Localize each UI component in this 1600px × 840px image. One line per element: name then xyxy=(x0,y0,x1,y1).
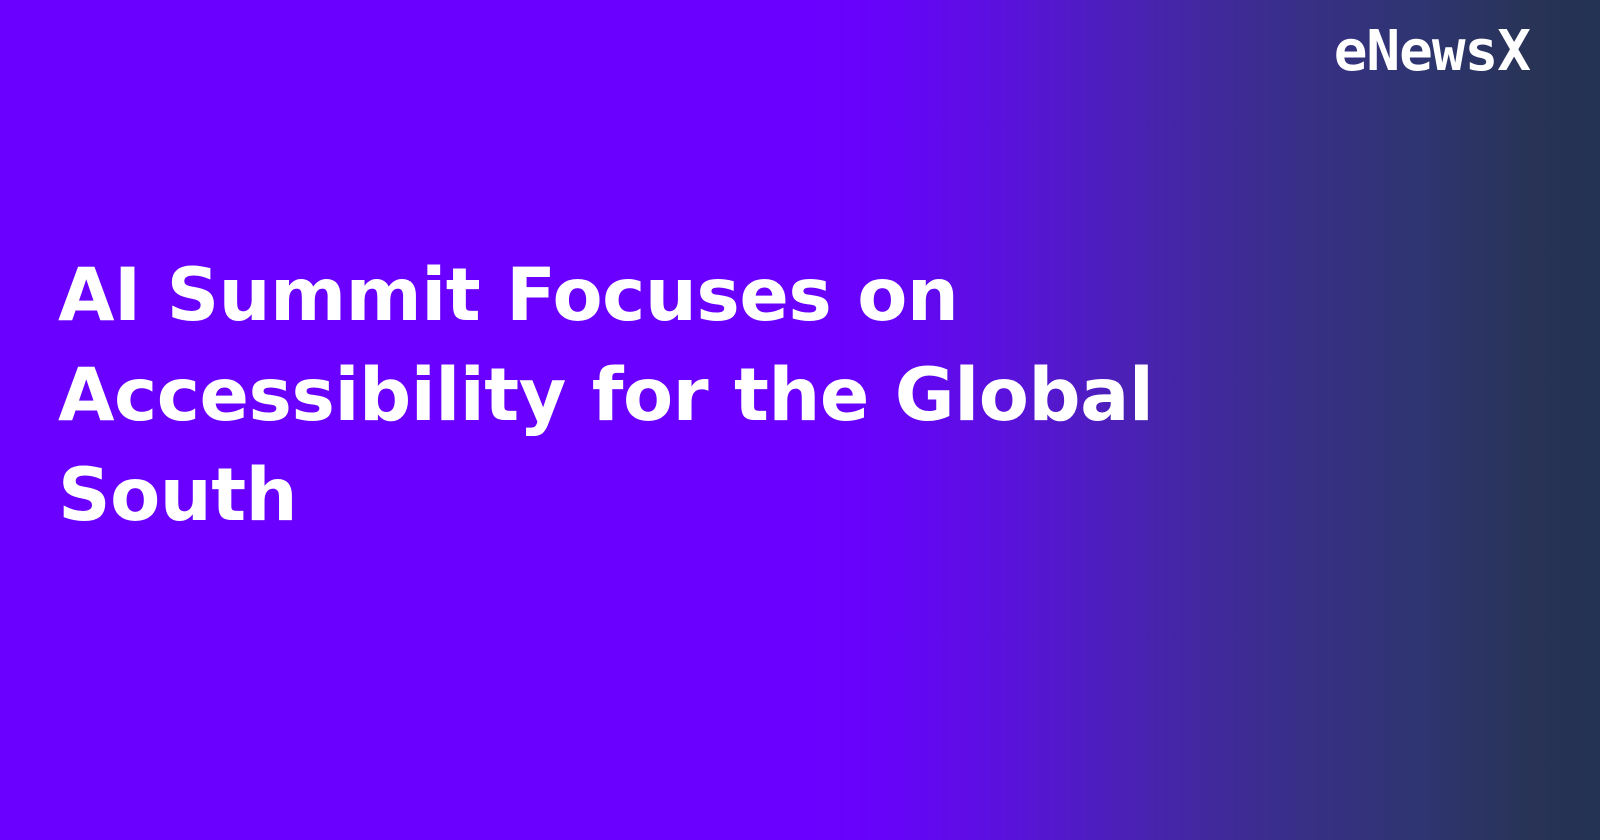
headline-title: AI Summit Focuses on Accessibility for t… xyxy=(58,246,1403,546)
brand-logo[interactable]: eNewsX xyxy=(1334,24,1530,80)
headline-container: AI Summit Focuses on Accessibility for t… xyxy=(58,246,1403,546)
brand-wordmark: eNewsX xyxy=(1334,24,1530,80)
news-card-banner: eNewsX AI Summit Focuses on Accessibilit… xyxy=(0,0,1600,840)
